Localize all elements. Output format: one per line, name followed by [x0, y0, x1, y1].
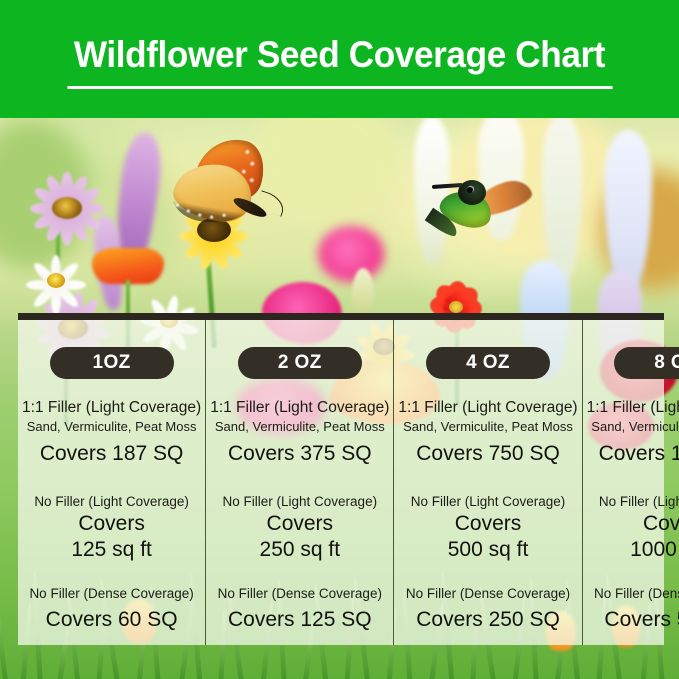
nofiller-dense-value: Covers 125 SQ: [210, 607, 389, 632]
coneflower-purple: [12, 168, 122, 248]
filler-coverage-value: Covers 187 SQ: [22, 441, 201, 466]
nofiller-light-value-line2: 125 sq ft: [22, 537, 201, 563]
white-daisy: [16, 250, 96, 310]
size-badge: 4 OZ: [426, 347, 550, 379]
nofiller-dense-title: No Filler (Dense Coverage): [22, 585, 201, 602]
filler-subtitle: Sand, Vermiculite, Peat Moss: [210, 419, 389, 435]
filler-title: 1:1 Filler (Light Coverage): [587, 399, 679, 417]
nofiller-light-title: No Filler (Light Coverage): [587, 493, 679, 510]
coverage-column-1oz: 1OZ 1:1 Filler (Light Coverage) Sand, Ve…: [18, 320, 205, 645]
table-top-bar: [18, 313, 664, 320]
nofiller-dense-title: No Filler (Dense Coverage): [587, 585, 679, 602]
size-badge: 1OZ: [50, 347, 174, 379]
table-body: 1OZ 1:1 Filler (Light Coverage) Sand, Ve…: [18, 320, 664, 645]
butterfly-icon: [172, 138, 292, 248]
coverage-column-2oz: 2 OZ 1:1 Filler (Light Coverage) Sand, V…: [205, 320, 393, 645]
filler-subtitle: Sand, Vermiculite, Peat Moss: [398, 419, 577, 435]
nofiller-light-value-line1: Covers: [210, 511, 389, 537]
nofiller-light-title: No Filler (Light Coverage): [22, 493, 201, 510]
nofiller-light-title: No Filler (Light Coverage): [210, 493, 389, 510]
filler-subtitle: Sand, Vermiculite, Peat Moss: [587, 419, 679, 435]
filler-coverage-value: Covers 1500 SQ: [587, 441, 679, 466]
nofiller-dense-value: Covers 60 SQ: [22, 607, 201, 632]
coverage-column-4oz: 4 OZ 1:1 Filler (Light Coverage) Sand, V…: [393, 320, 581, 645]
nofiller-dense-value: Covers 500 SQ: [587, 607, 679, 632]
nofiller-dense-value: Covers 250 SQ: [398, 607, 577, 632]
pink-bud: [352, 268, 374, 312]
filler-coverage-value: Covers 750 SQ: [398, 441, 577, 466]
nofiller-light-value-line1: Covers: [398, 511, 577, 537]
nofiller-light-value-line2: 250 sq ft: [210, 537, 389, 563]
nofiller-dense-title: No Filler (Dense Coverage): [210, 585, 389, 602]
size-badge: 8 OZ: [614, 347, 679, 379]
orange-poppy: [92, 248, 164, 284]
nofiller-light-value-line2: 500 sq ft: [398, 537, 577, 563]
hummingbird-icon: [418, 172, 536, 252]
nofiller-light-value-line2: 1000 sq ft: [587, 537, 679, 563]
nofiller-light-value-line1: Covers: [587, 511, 679, 537]
white-delphinium: [542, 114, 582, 284]
pink-flower: [318, 226, 384, 282]
filler-title: 1:1 Filler (Light Coverage): [22, 399, 201, 417]
header-banner: Wildflower Seed Coverage Chart: [0, 0, 679, 118]
wildflower-seed-coverage-infographic: Wildflower Seed Coverage Chart 1OZ 1:1 F…: [0, 0, 679, 679]
filler-title: 1:1 Filler (Light Coverage): [210, 399, 389, 417]
filler-coverage-value: Covers 375 SQ: [210, 441, 389, 466]
nofiller-light-value-line1: Covers: [22, 511, 201, 537]
coverage-table: 1OZ 1:1 Filler (Light Coverage) Sand, Ve…: [18, 313, 664, 645]
size-badge: 2 OZ: [238, 347, 362, 379]
filler-subtitle: Sand, Vermiculite, Peat Moss: [22, 419, 201, 435]
filler-title: 1:1 Filler (Light Coverage): [398, 399, 577, 417]
title-underline: [67, 86, 612, 89]
nofiller-dense-title: No Filler (Dense Coverage): [398, 585, 577, 602]
coverage-column-8oz: 8 OZ 1:1 Filler (Light Coverage) Sand, V…: [582, 320, 679, 645]
nofiller-light-title: No Filler (Light Coverage): [398, 493, 577, 510]
page-title: Wildflower Seed Coverage Chart: [17, 32, 662, 78]
